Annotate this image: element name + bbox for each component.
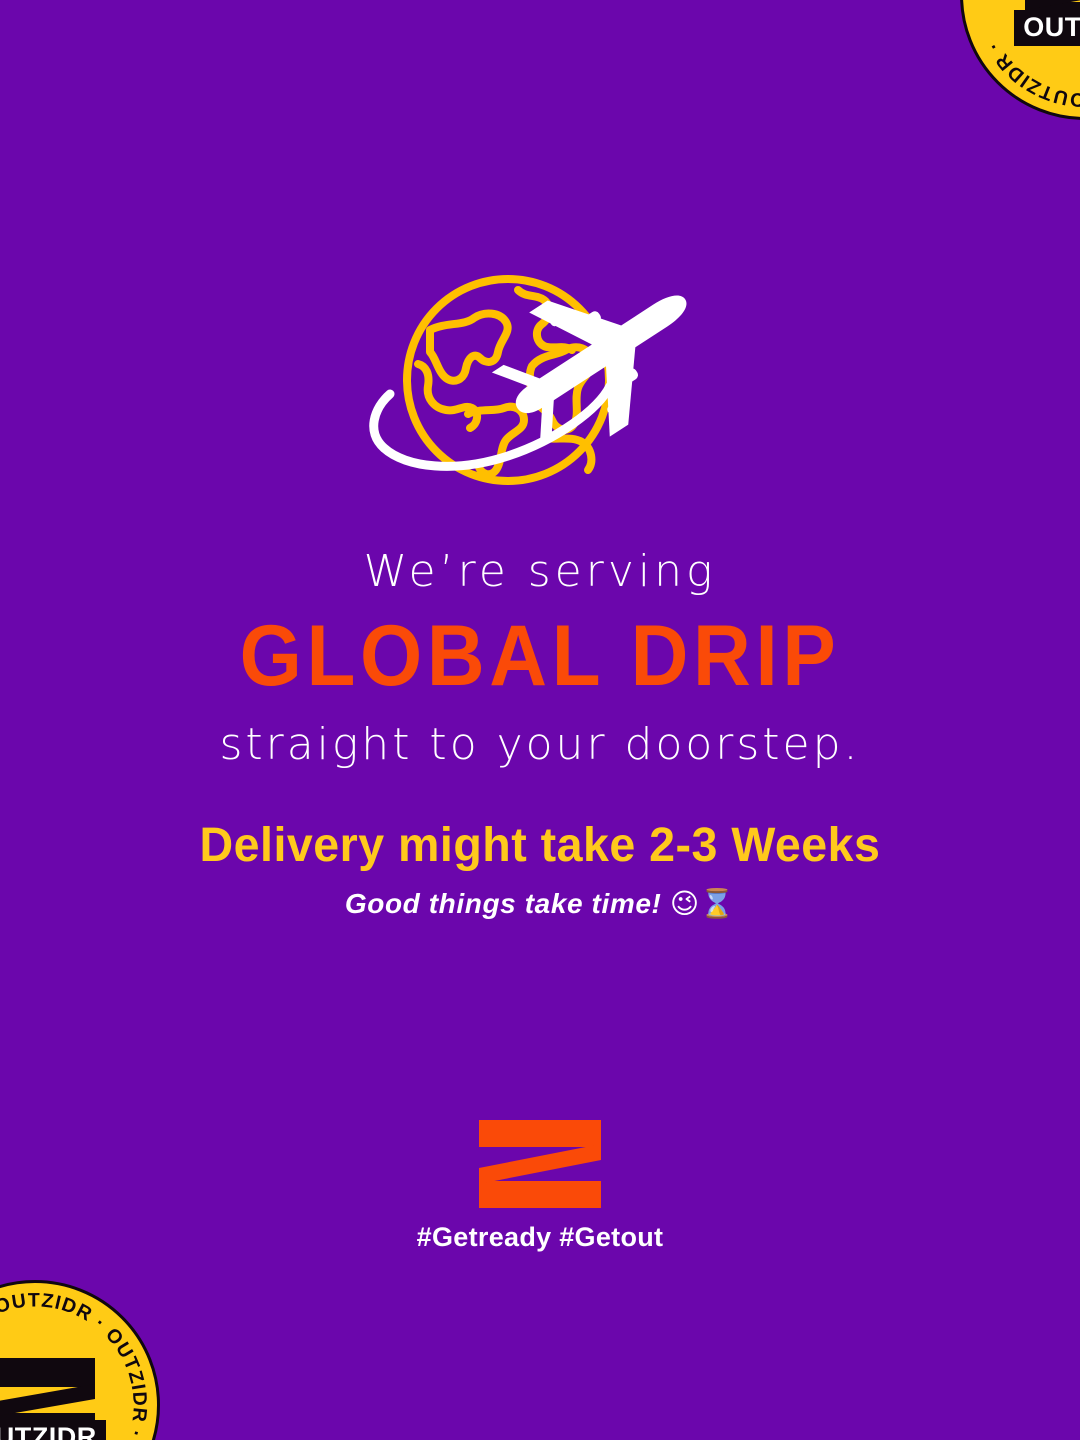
headline-main: GLOBAL DRIP <box>38 610 1042 703</box>
globe-with-airplane-icon <box>360 268 720 508</box>
promo-poster: OUTZIDR · OUTZIDR · OUTZIDR · OUTZIDR · … <box>0 0 1080 1440</box>
delivery-subnote: Good things take time! 😉⌛ <box>0 889 1080 920</box>
brand-badge-top-right: OUTZIDR · OUTZIDR · OUTZIDR · OUTZIDR · … <box>960 0 1080 120</box>
headline-line-1: We’re serving <box>0 548 1080 596</box>
airplane-icon <box>476 268 720 471</box>
z-logo-icon <box>479 1120 601 1208</box>
headline-block: We’re serving GLOBAL DRIP straight to yo… <box>0 548 1080 770</box>
badge-wordmark-box-top-right: OUTZIDR <box>1014 10 1080 46</box>
badge-wordmark-box-bottom-left: OUTZIDR <box>0 1420 106 1440</box>
headline-line-3: straight to your doorstep. <box>0 721 1080 769</box>
badge-wordmark: OUTZIDR <box>0 1424 97 1440</box>
hero-illustration <box>0 268 1080 508</box>
badge-wordmark: OUTZIDR <box>1023 14 1080 41</box>
delivery-subnote-text: Good things take time! <box>345 888 662 919</box>
brand-badge-bottom-left: OUTZIDR · OUTZIDR · OUTZIDR · OUTZIDR · … <box>0 1280 160 1440</box>
footer-brand-block: #Getready #Getout <box>0 1120 1080 1251</box>
badge-core-bottom-left: OUTZIDR <box>0 1354 115 1440</box>
badge-core-top-right: OUTZIDR <box>1005 0 1080 46</box>
footer-hashtags: #Getready #Getout <box>417 1224 664 1251</box>
delivery-notice: Delivery might take 2-3 Weeks <box>16 820 1064 873</box>
delivery-block: Delivery might take 2-3 Weeks Good thing… <box>0 820 1080 920</box>
wink-and-hourglass-emoji: 😉⌛ <box>670 887 735 920</box>
